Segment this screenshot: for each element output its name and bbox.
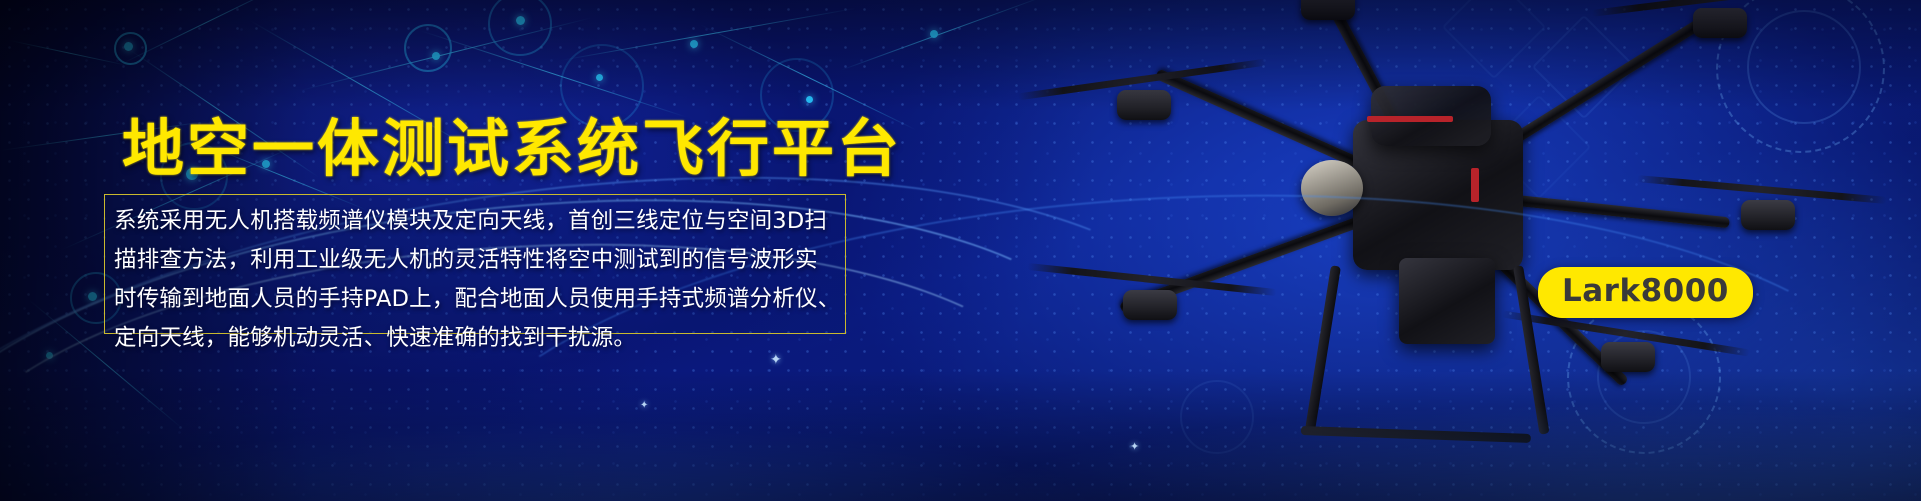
page-title: 地空一体测试系统飞行平台 — [122, 118, 902, 180]
sparkle-icon: ✦ — [1130, 440, 1139, 453]
product-model-badge: Lark8000 — [1538, 267, 1753, 318]
drone-silhouette-image — [1001, 0, 1881, 460]
sparkle-icon: ✦ — [640, 400, 648, 411]
product-banner: ✦ ✦ ✦ 地空一体测试系统飞行平台 系统采用无人机搭载频谱仪模块及定向天线，首… — [0, 0, 1921, 501]
description-text: 系统采用无人机搭载频谱仪模块及定向天线，首创三线定位与空间3D扫 描排查方法，利… — [114, 202, 852, 358]
